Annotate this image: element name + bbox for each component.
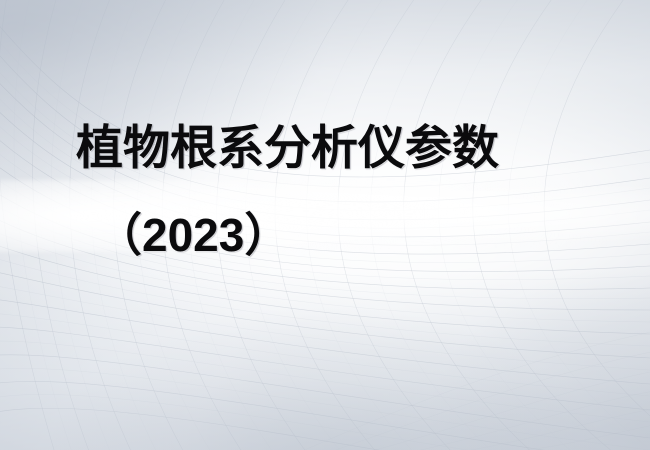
slide-title: 植物根系分析仪参数 bbox=[76, 124, 499, 171]
title-slide: 植物根系分析仪参数 （2023） bbox=[0, 0, 650, 450]
slide-subtitle-year: （2023） bbox=[96, 212, 290, 258]
slide-text-layer: 植物根系分析仪参数 （2023） bbox=[0, 0, 650, 450]
